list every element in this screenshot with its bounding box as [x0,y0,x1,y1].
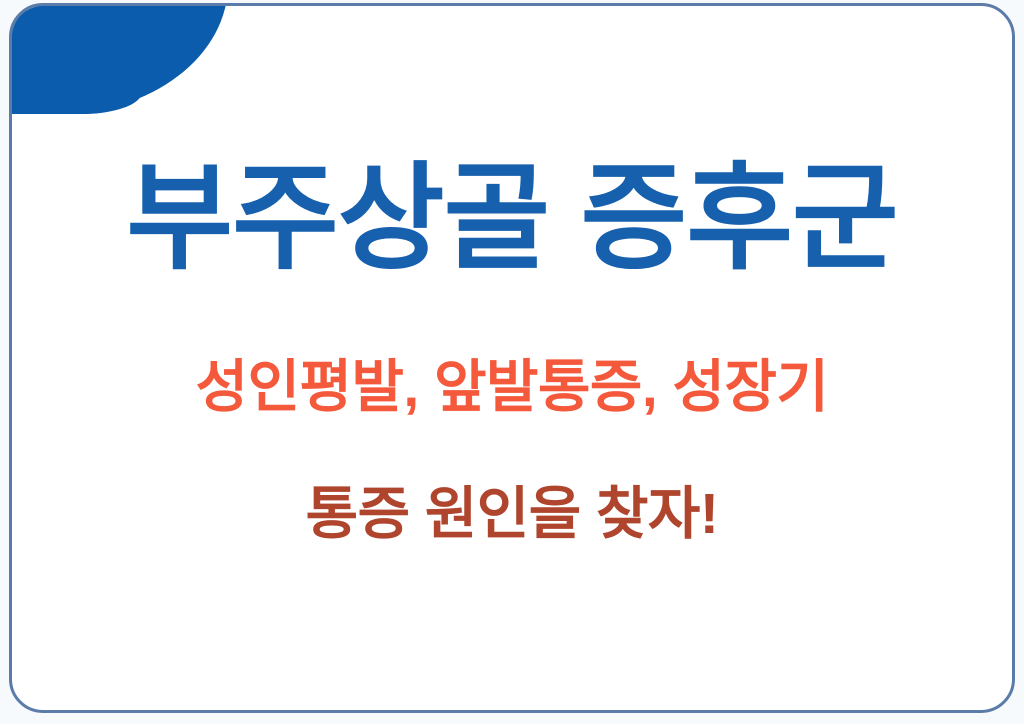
slide-subtitle-line-1: 성인평발, 앞발통증, 성장기 [196,355,829,421]
slide-canvas: 부주상골 증후군 성인평발, 앞발통증, 성장기 통증 원인을 찾자! [0,0,1024,724]
slide-subtitle-line-2: 통증 원인을 찾자! [306,482,719,548]
slide-card: 부주상골 증후군 성인평발, 앞발통증, 성장기 통증 원인을 찾자! [9,3,1015,713]
page-title: 부주상골 증후군 [126,158,897,279]
slide-content: 부주상골 증후군 성인평발, 앞발통증, 성장기 통증 원인을 찾자! [12,6,1012,710]
